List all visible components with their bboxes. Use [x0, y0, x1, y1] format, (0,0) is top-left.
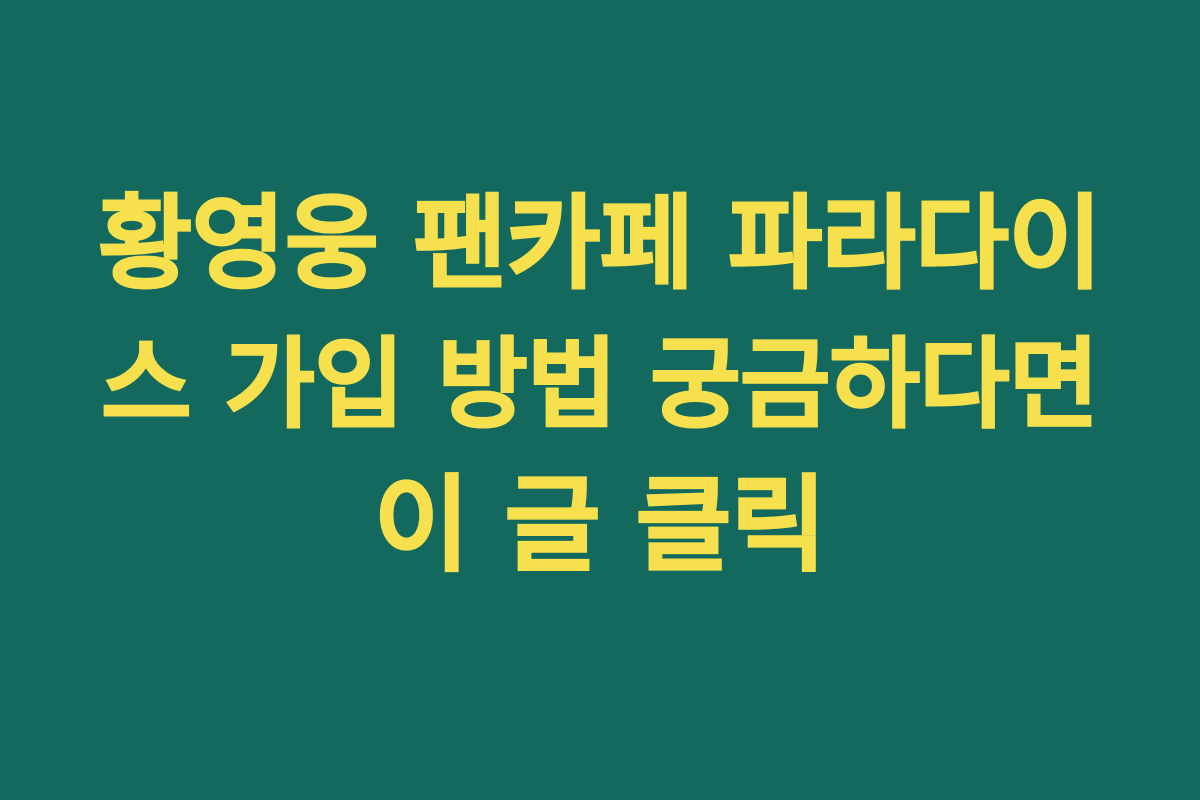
headline-line-3: 이 글 클릭	[374, 455, 826, 595]
headline-line-2: 스 가입 방법 궁금하다면	[101, 315, 1098, 455]
headline-line-1: 황영웅 팬카페 파라다이	[98, 175, 1101, 315]
thumbnail-card: 황영웅 팬카페 파라다이 스 가입 방법 궁금하다면 이 글 클릭	[0, 0, 1200, 800]
headline-block: 황영웅 팬카페 파라다이 스 가입 방법 궁금하다면 이 글 클릭	[70, 175, 1130, 595]
